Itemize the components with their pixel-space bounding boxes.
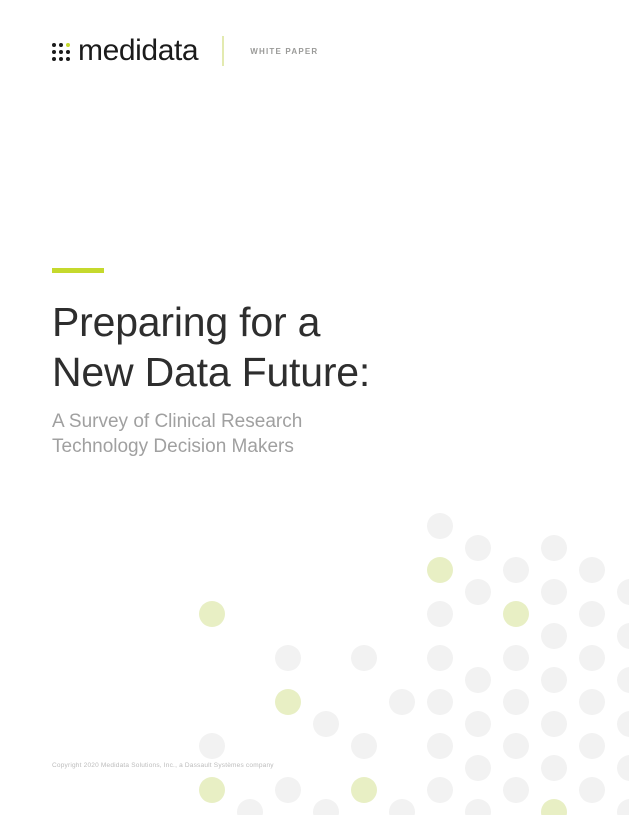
decorative-dot	[199, 733, 225, 759]
decorative-dot	[503, 777, 529, 803]
decorative-dot	[465, 579, 491, 605]
logo-wordmark: medidata	[78, 36, 198, 66]
decorative-dot	[313, 799, 339, 815]
decorative-dot	[313, 711, 339, 737]
decorative-dot	[579, 557, 605, 583]
logo-dot	[59, 57, 63, 61]
decorative-dot	[541, 623, 567, 649]
decorative-dot	[579, 689, 605, 715]
decorative-dot	[503, 601, 529, 627]
logo-dot	[52, 57, 56, 61]
decorative-dot	[389, 689, 415, 715]
medidata-logo[interactable]: medidata	[52, 36, 198, 66]
decorative-dot	[465, 667, 491, 693]
decorative-dot	[579, 733, 605, 759]
decorative-dot	[427, 601, 453, 627]
white-paper-cover-page: medidata WHITE PAPER Preparing for a New…	[0, 0, 629, 815]
medidata-dot-grid-logo-icon	[52, 43, 70, 61]
decorative-dot	[427, 689, 453, 715]
page-header: medidata WHITE PAPER	[52, 36, 318, 66]
decorative-dot	[503, 557, 529, 583]
page-subtitle: A Survey of Clinical Research Technology…	[52, 409, 522, 459]
decorative-dot	[579, 601, 605, 627]
logo-dot	[52, 43, 56, 47]
logo-dot	[59, 50, 63, 54]
decorative-dot	[465, 755, 491, 781]
decorative-dot	[541, 579, 567, 605]
decorative-dot	[541, 667, 567, 693]
decorative-dot	[427, 645, 453, 671]
decorative-dot	[427, 557, 453, 583]
page-footer: Copyright 2020 Medidata Solutions, Inc.,…	[52, 762, 274, 769]
decorative-dot	[237, 799, 263, 815]
decorative-dot	[351, 645, 377, 671]
decorative-dot	[579, 777, 605, 803]
decorative-dot	[351, 733, 377, 759]
decorative-dot	[199, 777, 225, 803]
header-divider	[222, 36, 224, 66]
decorative-dot	[617, 667, 629, 693]
decorative-dot	[427, 733, 453, 759]
decorative-dot	[617, 799, 629, 815]
logo-dot	[66, 57, 70, 61]
decorative-dot	[617, 711, 629, 737]
title-block: Preparing for a New Data Future: A Surve…	[52, 268, 522, 459]
decorative-dot	[503, 689, 529, 715]
decorative-dot	[427, 777, 453, 803]
decorative-dot	[617, 623, 629, 649]
decorative-dot	[465, 799, 491, 815]
title-accent-rule	[52, 268, 104, 273]
decorative-dot	[275, 689, 301, 715]
decorative-dot	[465, 535, 491, 561]
logo-dot	[66, 43, 70, 47]
decorative-dot	[503, 733, 529, 759]
decorative-dot	[541, 755, 567, 781]
decorative-dot	[465, 711, 491, 737]
copyright-notice: Copyright 2020 Medidata Solutions, Inc.,…	[52, 762, 274, 769]
decorative-dot	[427, 513, 453, 539]
decorative-dot	[617, 755, 629, 781]
logo-dot	[66, 50, 70, 54]
logo-dot	[59, 43, 63, 47]
decorative-dot	[579, 645, 605, 671]
logo-dot	[52, 50, 56, 54]
decorative-dot	[541, 711, 567, 737]
decorative-dot	[617, 579, 629, 605]
decorative-dot	[275, 777, 301, 803]
page-title: Preparing for a New Data Future:	[52, 297, 522, 397]
decorative-dot	[275, 645, 301, 671]
decorative-dot	[541, 799, 567, 815]
document-type-tag: WHITE PAPER	[250, 47, 318, 56]
decorative-dot	[351, 777, 377, 803]
decorative-dot	[199, 601, 225, 627]
decorative-dot	[503, 645, 529, 671]
decorative-dot	[541, 535, 567, 561]
decorative-dot	[389, 799, 415, 815]
